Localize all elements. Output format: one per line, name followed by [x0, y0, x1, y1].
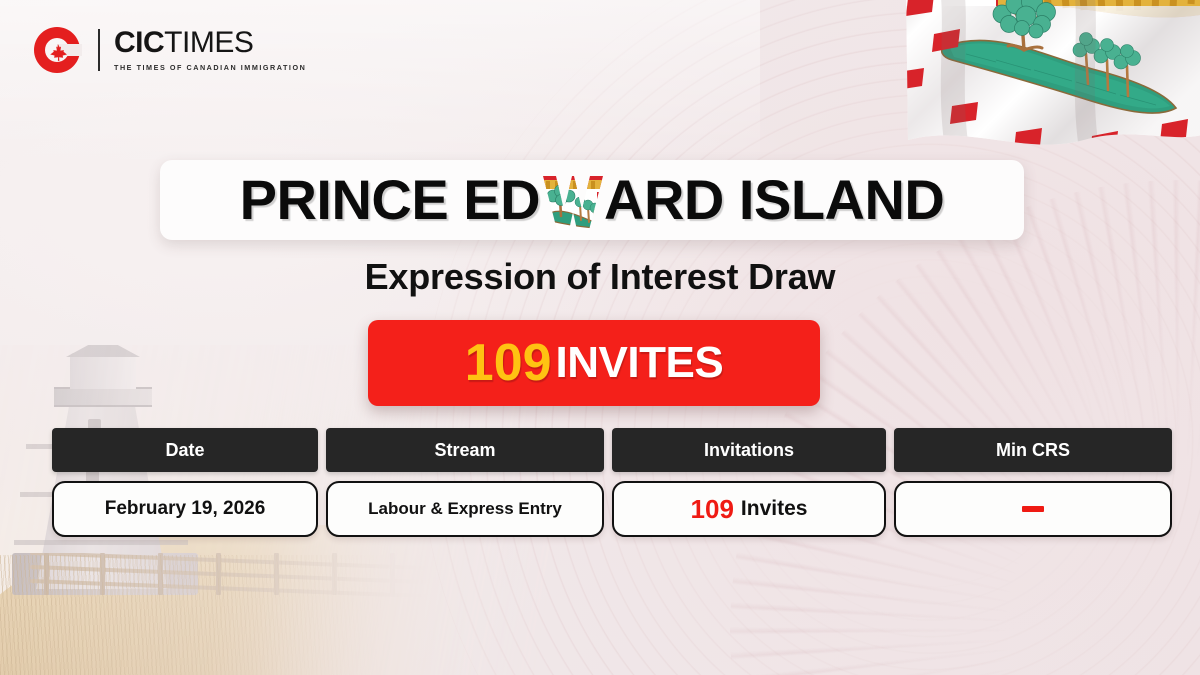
- logo-name-times: TIMES: [164, 26, 253, 59]
- logo-name: CICTIMES: [114, 28, 306, 58]
- draw-details-table: Date Stream Invitations Min CRS February…: [52, 428, 1148, 537]
- invites-badge-label: INVITES: [556, 341, 724, 385]
- title-card: PRINCE ED: [160, 160, 1024, 240]
- photo-grass: [0, 555, 420, 675]
- logo-name-cic: CIC: [114, 26, 164, 59]
- page-title: PRINCE ED: [240, 172, 945, 228]
- title-segment-after: ARD ISLAND: [604, 172, 944, 228]
- cell-min-crs: [894, 481, 1172, 537]
- logo-divider: [98, 29, 100, 71]
- draw-announcement-graphic: CICTIMES THE TIMES OF CANADIAN IMMIGRATI…: [0, 0, 1200, 675]
- invites-badge: 109 INVITES: [368, 320, 820, 406]
- cic-times-c-maple-leaf-logo: [32, 25, 82, 75]
- table-header-min-crs: Min CRS: [894, 428, 1172, 472]
- cell-invitations: 109 Invites: [612, 481, 886, 537]
- table-row: February 19, 2026 Labour & Express Entry…: [52, 481, 1148, 537]
- table-header-row: Date Stream Invitations Min CRS: [52, 428, 1148, 472]
- cell-invitations-number: 109: [691, 494, 734, 525]
- page-subtitle: Expression of Interest Draw: [0, 256, 1200, 298]
- invites-badge-number: 109: [465, 337, 552, 389]
- logo-wordmark: CICTIMES THE TIMES OF CANADIAN IMMIGRATI…: [114, 28, 306, 72]
- prince-edward-island-flag: [876, 0, 1200, 179]
- logo-tagline: THE TIMES OF CANADIAN IMMIGRATION: [114, 63, 306, 72]
- pei-flag-letter-w-icon: [541, 176, 603, 230]
- title-segment-before: PRINCE ED: [240, 172, 540, 228]
- table-header-date: Date: [52, 428, 318, 472]
- lighthouse-lantern: [70, 353, 136, 389]
- cic-times-logo[interactable]: CICTIMES THE TIMES OF CANADIAN IMMIGRATI…: [32, 25, 306, 75]
- lighthouse-band: [14, 540, 188, 545]
- cell-invitations-unit: Invites: [741, 497, 808, 521]
- cell-date: February 19, 2026: [52, 481, 318, 537]
- table-header-invitations: Invitations: [612, 428, 886, 472]
- table-header-stream: Stream: [326, 428, 604, 472]
- cell-stream: Labour & Express Entry: [326, 481, 604, 537]
- cell-min-crs-dash-icon: [1022, 506, 1044, 512]
- lighthouse-gallery: [54, 387, 152, 407]
